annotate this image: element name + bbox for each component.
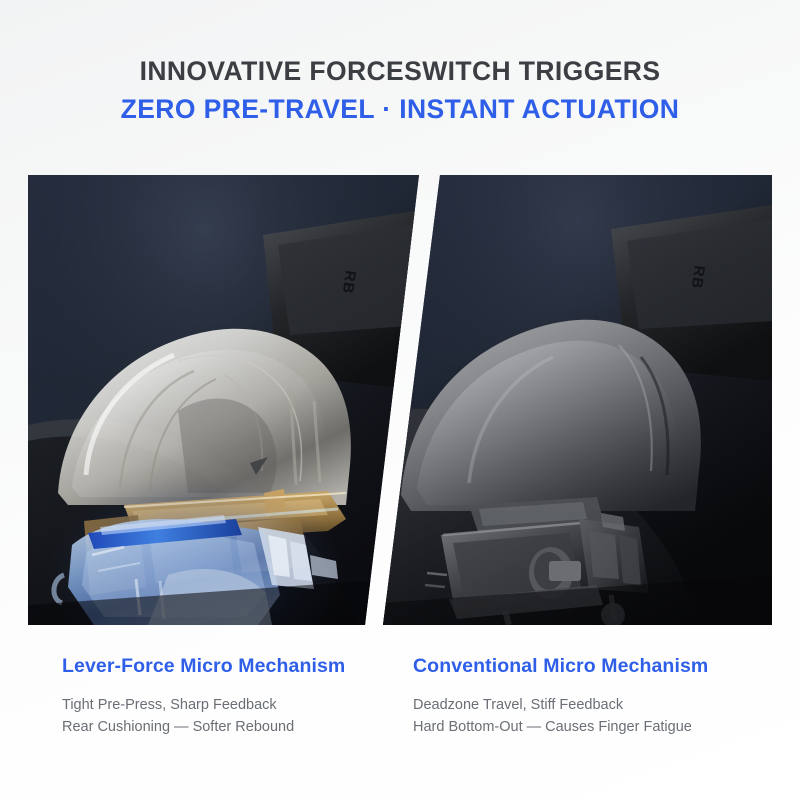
caption-line: Rear Cushioning — Softer Rebound: [62, 716, 392, 738]
caption-conventional: Conventional Micro Mechanism Deadzone Tr…: [413, 655, 773, 738]
conventional-mechanism-illustration: RB: [383, 175, 772, 625]
lever-force-mechanism-illustration: RB: [28, 175, 420, 625]
product-feature-slide: INNOVATIVE FORCESWITCH TRIGGERS ZERO PRE…: [0, 0, 800, 800]
page-subtitle: ZERO PRE-TRAVEL · INSTANT ACTUATION: [0, 94, 800, 125]
svg-text:RB: RB: [339, 269, 359, 295]
svg-text:RB: RB: [688, 264, 708, 290]
shoulder-button-label-right: RB: [688, 264, 708, 290]
page-title: INNOVATIVE FORCESWITCH TRIGGERS: [0, 56, 800, 87]
shoulder-button-label-left: RB: [339, 269, 359, 295]
caption-lever-force: Lever-Force Micro Mechanism Tight Pre-Pr…: [62, 655, 392, 738]
caption-line: Hard Bottom-Out — Causes Finger Fatigue: [413, 716, 773, 738]
panel-lever-force: RB: [28, 175, 420, 625]
caption-line: Tight Pre-Press, Sharp Feedback: [62, 694, 392, 716]
panel-conventional: RB: [383, 175, 772, 625]
caption-title-lever-force: Lever-Force Micro Mechanism: [62, 655, 392, 678]
caption-line: Deadzone Travel, Stiff Feedback: [413, 694, 773, 716]
caption-title-conventional: Conventional Micro Mechanism: [413, 655, 773, 678]
